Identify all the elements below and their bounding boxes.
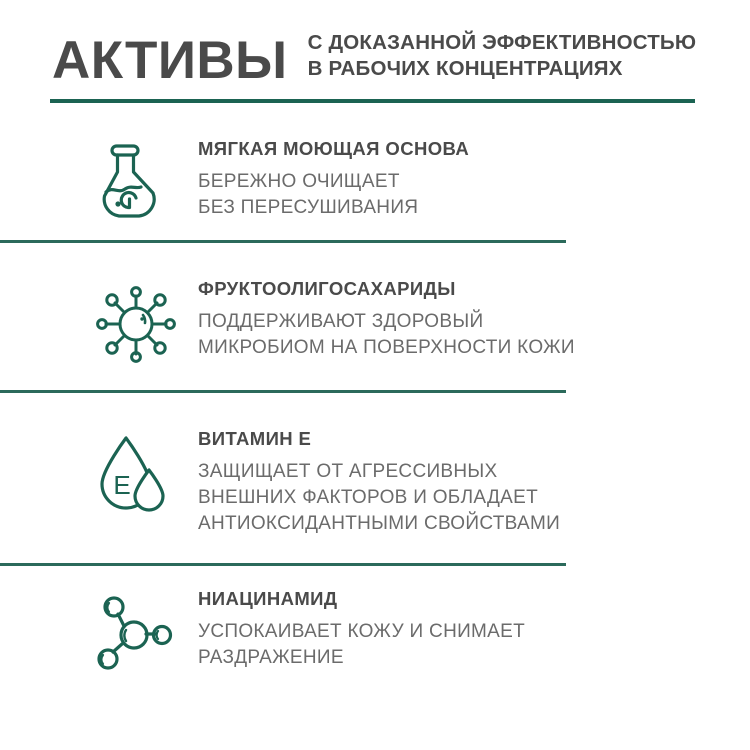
section-separator-1 <box>0 240 566 243</box>
droplet-e-icon: E <box>96 428 192 514</box>
section-separator-2 <box>0 390 566 393</box>
feature-description: ПОДДЕРЖИВАЮТ ЗДОРОВЫЙ МИКРОБИОМ НА ПОВЕР… <box>198 309 750 361</box>
feature-description: БЕРЕЖНО ОЧИЩАЕТ БЕЗ ПЕРЕСУШИВАНИЯ <box>198 169 750 221</box>
header-subtitle-line-2: В РАБОЧИХ КОНЦЕНТРАЦИЯХ <box>308 56 697 82</box>
page-title: АКТИВЫ <box>52 34 288 87</box>
feature-item-niacinamide: НИАЦИНАМИД УСПОКАИВАЕТ КОЖУ И СНИМАЕТ РА… <box>0 588 750 672</box>
section-separator-3 <box>0 563 566 566</box>
header: АКТИВЫ С ДОКАЗАННОЙ ЭФФЕКТИВНОСТЬЮ В РАБ… <box>0 0 750 112</box>
feature-item-fructooligosaccharides: ФРУКТООЛИГОСАХАРИДЫ ПОДДЕРЖИВАЮТ ЗДОРОВЫ… <box>0 278 750 366</box>
header-row: АКТИВЫ С ДОКАЗАННОЙ ЭФФЕКТИВНОСТЬЮ В РАБ… <box>52 30 696 85</box>
feature-text-block: ВИТАМИН Е ЗАЩИЩАЕТ ОТ АГРЕССИВНЫХ ВНЕШНИ… <box>192 428 750 537</box>
feature-title: ВИТАМИН Е <box>198 428 750 450</box>
feature-description: ЗАЩИЩАЕТ ОТ АГРЕССИВНЫХ ВНЕШНИХ ФАКТОРОВ… <box>198 459 750 536</box>
feature-title: НИАЦИНАМИД <box>198 588 750 610</box>
droplet-icon-letter: E <box>113 470 130 500</box>
feature-item-vitamin-e: E ВИТАМИН Е ЗАЩИЩАЕТ ОТ АГРЕССИВНЫХ ВНЕШ… <box>0 428 750 537</box>
feature-item-soft-base: МЯГКАЯ МОЮЩАЯ ОСНОВА БЕРЕЖНО ОЧИЩАЕТ БЕЗ… <box>0 138 750 221</box>
flask-icon <box>96 138 192 220</box>
infographic-page: АКТИВЫ С ДОКАЗАННОЙ ЭФФЕКТИВНОСТЬЮ В РАБ… <box>0 0 750 750</box>
feature-title: ФРУКТООЛИГОСАХАРИДЫ <box>198 278 750 300</box>
molecule-icon <box>96 588 192 672</box>
header-divider <box>50 99 695 103</box>
feature-description: УСПОКАИВАЕТ КОЖУ И СНИМАЕТ РАЗДРАЖЕНИЕ <box>198 619 750 671</box>
feature-title: МЯГКАЯ МОЮЩАЯ ОСНОВА <box>198 138 750 160</box>
header-subtitle: С ДОКАЗАННОЙ ЭФФЕКТИВНОСТЬЮ В РАБОЧИХ КО… <box>308 30 697 85</box>
microbe-icon <box>96 278 192 366</box>
feature-text-block: МЯГКАЯ МОЮЩАЯ ОСНОВА БЕРЕЖНО ОЧИЩАЕТ БЕЗ… <box>192 138 750 221</box>
feature-text-block: НИАЦИНАМИД УСПОКАИВАЕТ КОЖУ И СНИМАЕТ РА… <box>192 588 750 671</box>
feature-text-block: ФРУКТООЛИГОСАХАРИДЫ ПОДДЕРЖИВАЮТ ЗДОРОВЫ… <box>192 278 750 361</box>
header-subtitle-line-1: С ДОКАЗАННОЙ ЭФФЕКТИВНОСТЬЮ <box>308 30 697 56</box>
